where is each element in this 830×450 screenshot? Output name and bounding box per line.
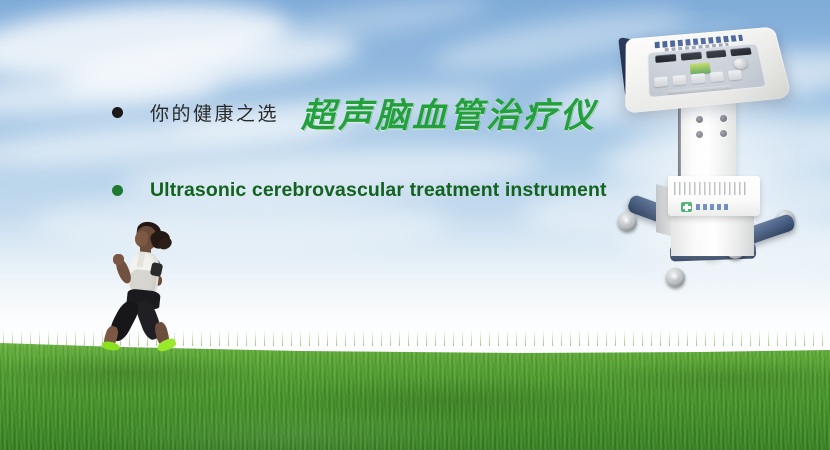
medical-cross-logo-icon xyxy=(681,202,692,212)
panel-button[interactable] xyxy=(673,75,687,86)
cart-lower-body xyxy=(671,214,754,256)
grass-field xyxy=(0,340,830,450)
banner-text-block: 你的健康之选 超声脑血管治疗仪 Ultrasonic cerebrovascul… xyxy=(112,88,632,202)
caster-wheel xyxy=(666,268,685,287)
green-bullet-icon xyxy=(112,185,123,196)
connector-port[interactable] xyxy=(696,116,703,123)
treatment-device-cart xyxy=(608,16,808,316)
panel-button[interactable] xyxy=(691,73,705,84)
runner-front-fist xyxy=(113,254,124,265)
caster-wheel xyxy=(618,212,637,231)
control-panel[interactable] xyxy=(625,27,792,114)
subheadline-row: Ultrasonic cerebrovascular treatment ins… xyxy=(112,179,632,202)
tagline-chinese: 你的健康之选 xyxy=(150,99,279,126)
panel-button[interactable] xyxy=(728,70,743,81)
product-title-chinese: 超声脑血管治疗仪 xyxy=(301,88,597,137)
brand-name-text xyxy=(696,204,729,210)
product-title-english: Ultrasonic cerebrovascular treatment ins… xyxy=(150,179,607,202)
jogging-woman xyxy=(96,222,206,350)
runner-front-shoe xyxy=(101,340,120,351)
headline-row: 你的健康之选 超声脑血管治疗仪 xyxy=(112,88,632,137)
connector-port[interactable] xyxy=(696,131,703,138)
dark-bullet-icon xyxy=(112,107,123,118)
panel-button[interactable] xyxy=(709,71,724,82)
basket-vent-slots xyxy=(674,182,746,195)
connector-port[interactable] xyxy=(720,115,727,122)
runner-armband xyxy=(150,262,163,277)
panel-button[interactable] xyxy=(654,76,668,87)
connector-port[interactable] xyxy=(720,130,727,137)
promo-banner: 你的健康之选 超声脑血管治疗仪 Ultrasonic cerebrovascul… xyxy=(0,0,830,450)
